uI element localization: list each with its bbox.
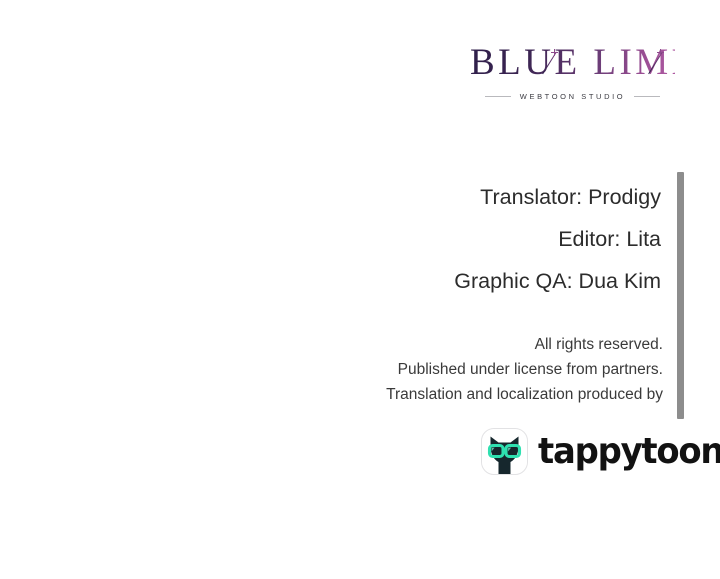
vertical-scrollbar-thumb[interactable] (677, 172, 684, 419)
blue-lime-studio-logo: BLUE LIME WEBTOON STUDIO (470, 44, 675, 101)
rights-line-translation: Translation and localization produced by (386, 382, 663, 407)
tappytoon-logo-lockup: tappytoon (481, 428, 720, 475)
credit-line-translator: Translator: Prodigy (454, 176, 661, 218)
studio-subtitle-row: WEBTOON STUDIO (470, 92, 675, 101)
credit-line-editor: Editor: Lita (454, 218, 661, 260)
page-root: BLUE LIME WEBTOON STUDIO Translator: Pro… (0, 0, 720, 579)
credits-block: Translator: Prodigy Editor: Lita Graphic… (454, 176, 661, 302)
tappytoon-wordmark: tappytoon (538, 434, 720, 470)
studio-subtitle: WEBTOON STUDIO (520, 92, 625, 101)
rights-line-all-rights: All rights reserved. (386, 332, 663, 357)
rights-line-published: Published under license from partners. (386, 357, 663, 382)
studio-wordmark: BLUE LIME (470, 44, 675, 81)
tappytoon-cat-logo-icon (481, 428, 528, 475)
subtitle-rule-left (485, 96, 511, 97)
subtitle-rule-right (634, 96, 660, 97)
credit-line-graphic-qa: Graphic QA: Dua Kim (454, 260, 661, 302)
rights-block: All rights reserved. Published under lic… (386, 332, 663, 407)
